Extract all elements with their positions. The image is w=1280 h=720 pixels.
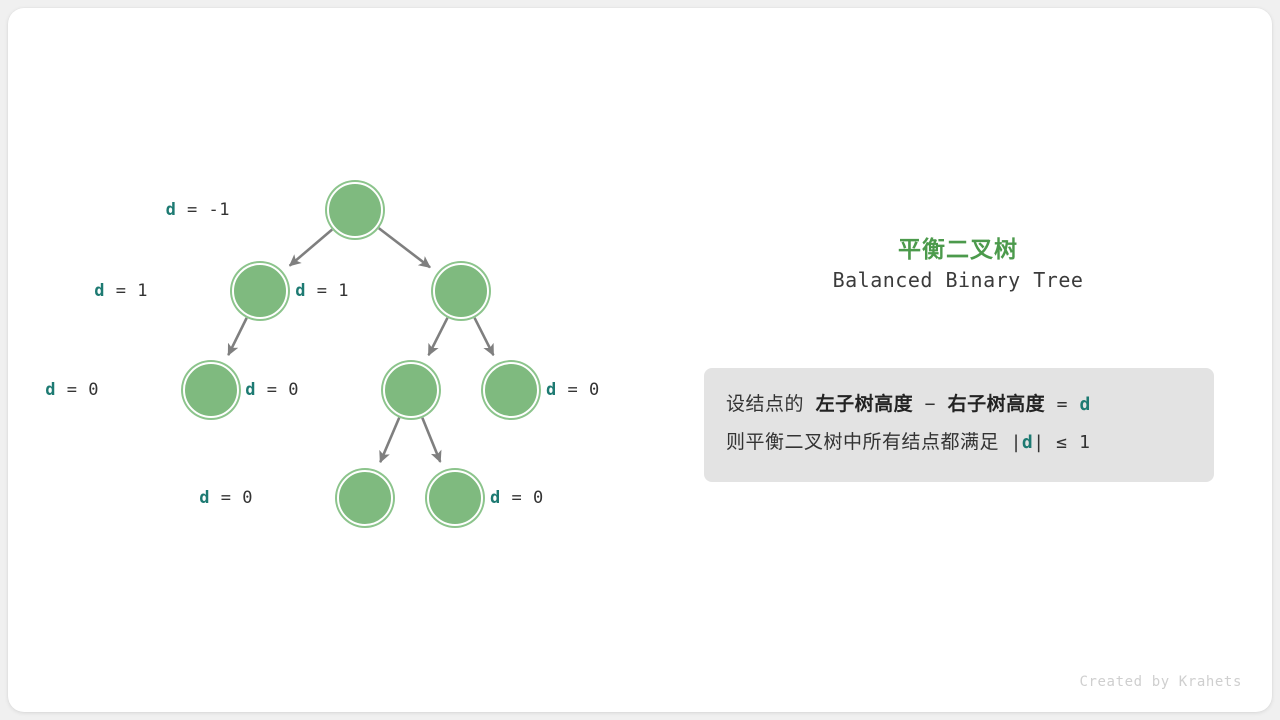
balance-value: = 0 xyxy=(501,488,544,508)
tree-node-n-rll[interactable] xyxy=(337,470,393,526)
tree-edge xyxy=(429,318,448,355)
diagram-card: d = -1d = 1d = 1d = 0d = 0d = 0d = 0d = … xyxy=(8,8,1272,712)
tree-edge xyxy=(379,228,430,267)
tree-node-n-r[interactable] xyxy=(433,263,489,319)
balance-value: = 0 xyxy=(56,380,99,400)
definition-line-2: 则平衡二叉树中所有结点都满足 |d| ≤ 1 xyxy=(726,424,1192,462)
tree-node-n-rr[interactable] xyxy=(483,362,539,418)
right-subtree-height-term: 右子树高度 xyxy=(948,394,1046,415)
leq-operator: ≤ xyxy=(1056,432,1067,453)
node-balance-label-n-ll: d = 0 xyxy=(8,380,99,400)
node-balance-label-n-r: d = 1 xyxy=(249,281,349,301)
balance-value: = 0 xyxy=(210,488,253,508)
abs-open-bar: | xyxy=(1011,432,1022,453)
balance-var: d xyxy=(199,488,210,508)
d-variable-abs: d xyxy=(1022,432,1033,453)
node-balance-label-n-l: d = 1 xyxy=(48,281,148,301)
balance-value: = 0 xyxy=(557,380,600,400)
tree-edge xyxy=(380,418,399,463)
node-balance-label-n-rr: d = 0 xyxy=(546,380,600,400)
balance-var: d xyxy=(490,488,501,508)
definition-line-1: 设结点的 左子树高度 − 右子树高度 = d xyxy=(726,386,1192,424)
equals-operator: = xyxy=(1057,394,1068,415)
balance-value: = 0 xyxy=(256,380,299,400)
balance-var: d xyxy=(94,281,105,301)
node-balance-label-n-rl: d = 0 xyxy=(199,380,299,400)
tree-edge xyxy=(422,418,440,462)
condition-prefix: 则平衡二叉树中所有结点都满足 xyxy=(726,432,999,453)
tree-edge xyxy=(228,318,246,355)
balance-var: d xyxy=(295,281,306,301)
d-variable: d xyxy=(1080,394,1091,415)
left-subtree-height-term: 左子树高度 xyxy=(816,394,914,415)
definition-box: 设结点的 左子树高度 − 右子树高度 = d 则平衡二叉树中所有结点都满足 |d… xyxy=(704,368,1214,482)
tree-node-n-rlr[interactable] xyxy=(427,470,483,526)
balance-var: d xyxy=(245,380,256,400)
node-balance-label-n-rlr: d = 0 xyxy=(490,488,544,508)
node-balance-label-root: d = -1 xyxy=(130,200,230,220)
balance-value: = 1 xyxy=(105,281,148,301)
balance-value: = 1 xyxy=(306,281,349,301)
tree-node-n-rl[interactable] xyxy=(383,362,439,418)
definition-prefix: 设结点的 xyxy=(726,394,804,415)
node-balance-label-n-rll: d = 0 xyxy=(153,488,253,508)
balance-var: d xyxy=(45,380,56,400)
page-title: 平衡二叉树 xyxy=(668,230,1248,264)
credit-text: Created by Krahets xyxy=(1079,674,1242,690)
minus-operator: − xyxy=(925,394,936,415)
tree-edge xyxy=(475,318,494,355)
tree-edges xyxy=(8,8,668,712)
page-subtitle: Balanced Binary Tree xyxy=(668,268,1248,292)
tree-node-root[interactable] xyxy=(327,182,383,238)
tree-edge xyxy=(290,229,332,265)
binary-tree-diagram: d = -1d = 1d = 1d = 0d = 0d = 0d = 0d = … xyxy=(8,8,668,712)
abs-close-bar: | xyxy=(1033,432,1044,453)
balance-var: d xyxy=(546,380,557,400)
bound-value: 1 xyxy=(1079,432,1090,453)
balance-var: d xyxy=(166,200,177,220)
info-panel: 平衡二叉树 Balanced Binary Tree 设结点的 左子树高度 − … xyxy=(668,8,1272,712)
balance-value: = -1 xyxy=(176,200,230,220)
